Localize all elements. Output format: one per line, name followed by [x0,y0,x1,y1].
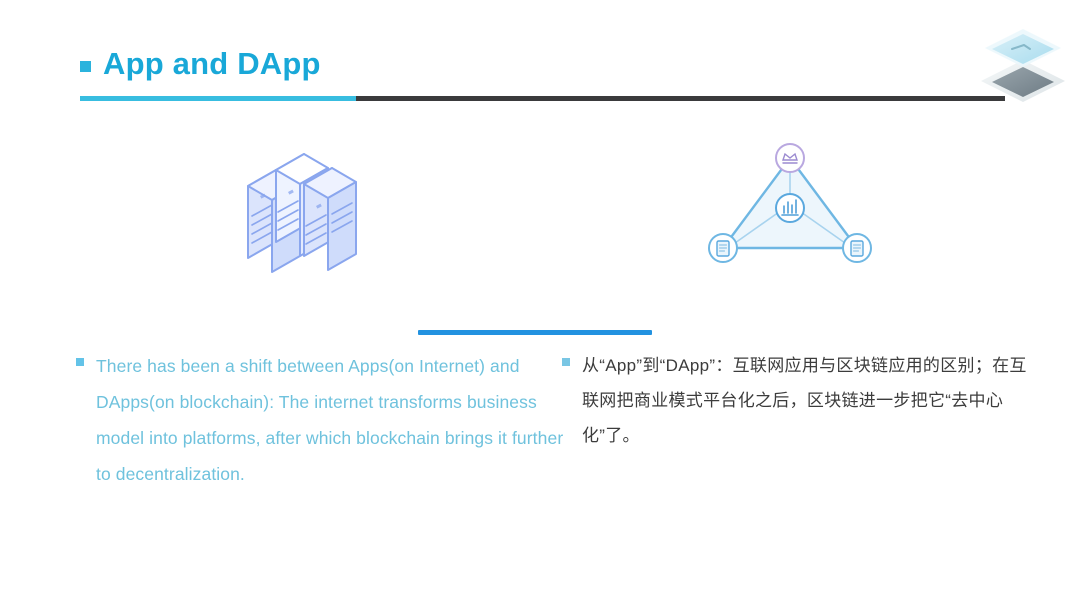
english-bullet-item: There has been a shift between Apps(on I… [76,348,568,492]
blockchain-network-illustration [705,140,875,270]
title-row: App and DApp [80,48,321,79]
node-document-icon-right [843,234,871,262]
connector-bar [418,330,652,335]
slide-header: App and DApp [0,0,1080,110]
blockchain-network-triangle-icon [705,140,875,270]
chinese-paragraph: 从“App”到“DApp”：互联网应用与区块链应用的区别；在互联网把商业模式平台… [582,348,1032,453]
page-title: App and DApp [103,48,321,79]
chinese-bullet-item: 从“App”到“DApp”：互联网应用与区块链应用的区别；在互联网把商业模式平台… [562,348,1032,453]
chinese-square-bullet-icon [562,358,570,366]
node-document-icon-left [709,234,737,262]
english-paragraph: There has been a shift between Apps(on I… [96,348,568,492]
illustration-band [0,130,1080,290]
node-crown-icon [776,144,804,172]
title-underline-cyan-segment [80,96,356,101]
english-square-bullet-icon [76,358,84,366]
stacked-diamonds-icon [978,24,1068,104]
server-rack-isometric-icon [240,138,370,278]
server-rack-illustration [240,138,370,278]
node-chart-icon [776,194,804,222]
title-square-bullet-icon [80,61,91,72]
title-underline [80,96,1005,101]
corner-diamond-decoration [978,24,1068,104]
